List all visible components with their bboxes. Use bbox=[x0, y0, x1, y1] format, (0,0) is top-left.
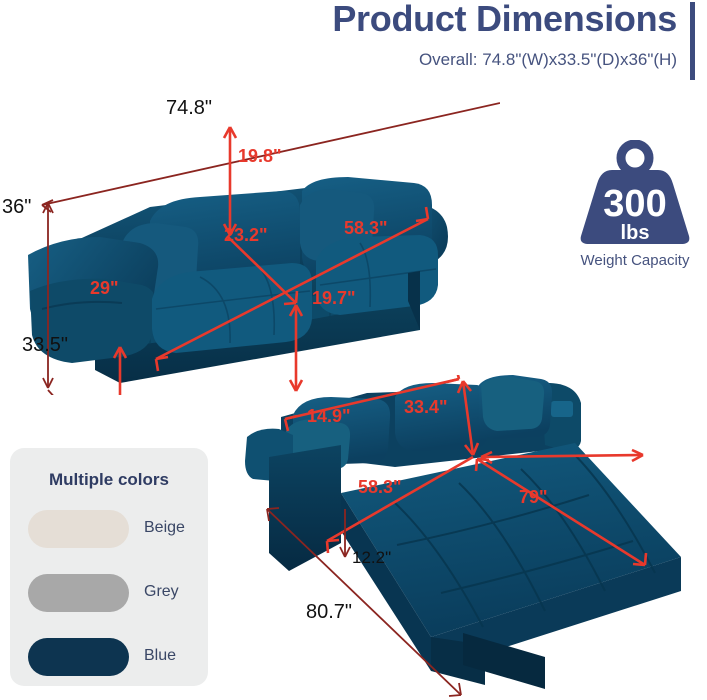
color-option-blue[interactable]: Blue bbox=[28, 638, 198, 676]
page-title: Product Dimensions bbox=[332, 0, 677, 40]
dim-label-seat-width: 58.3" bbox=[344, 218, 388, 239]
bed-throw-pillow bbox=[481, 377, 544, 431]
swatch-label-beige: Beige bbox=[144, 519, 185, 537]
dim-label-depth-total: 33.5" bbox=[22, 334, 68, 357]
weight-capacity-badge: 300 lbs Weight Capacity bbox=[565, 140, 705, 269]
multiple-colors-panel: Multiple colors Beige Grey Blue bbox=[10, 448, 208, 686]
dim-label-height-total: 36" bbox=[2, 196, 31, 219]
swatch-grey[interactable] bbox=[28, 574, 129, 612]
seat-cushion-left bbox=[152, 263, 312, 353]
colors-panel-title: Multiple colors bbox=[10, 470, 208, 490]
color-option-grey[interactable]: Grey bbox=[28, 574, 198, 612]
dim-label-bed-width: 58.3" bbox=[358, 477, 402, 498]
dim-label-arm-height: 29" bbox=[90, 278, 119, 299]
weight-capacity-caption: Weight Capacity bbox=[565, 252, 705, 269]
dim-label-bed-total-depth: 80.7" bbox=[306, 601, 352, 624]
dim-label-bed-length: 79" bbox=[519, 487, 548, 508]
bed-side-pocket bbox=[551, 401, 573, 417]
header-accent-bar bbox=[690, 2, 695, 80]
overall-dimensions-subtitle: Overall: 74.8"(W)x33.5"(D)x36"(H) bbox=[419, 50, 677, 70]
bed-arm-left-body bbox=[269, 445, 341, 571]
weight-value: 300 bbox=[603, 183, 666, 225]
header: Product Dimensions Overall: 74.8"(W)x33.… bbox=[0, 0, 707, 88]
color-option-beige[interactable]: Beige bbox=[28, 510, 198, 548]
dim-label-width-total: 74.8" bbox=[166, 97, 212, 120]
dim-label-bed-clearance: 12.2" bbox=[352, 548, 391, 568]
weight-unit: lbs bbox=[621, 222, 650, 244]
swatch-label-grey: Grey bbox=[144, 583, 179, 601]
weight-icon: 300 lbs bbox=[565, 140, 705, 248]
swatch-beige[interactable] bbox=[28, 510, 129, 548]
swatch-blue[interactable] bbox=[28, 638, 129, 676]
dim-label-back-depth: 33.4" bbox=[404, 397, 448, 418]
infographic-canvas: Product Dimensions Overall: 74.8"(W)x33.… bbox=[0, 0, 707, 700]
dim-label-back-height: 19.8" bbox=[238, 146, 282, 167]
dim-label-seat-depth: 23.2" bbox=[224, 225, 268, 246]
dim-label-pillow-width: 14.9" bbox=[307, 406, 351, 427]
dim-label-seat-height: 19.7" bbox=[312, 288, 356, 309]
swatch-label-blue: Blue bbox=[144, 647, 176, 665]
